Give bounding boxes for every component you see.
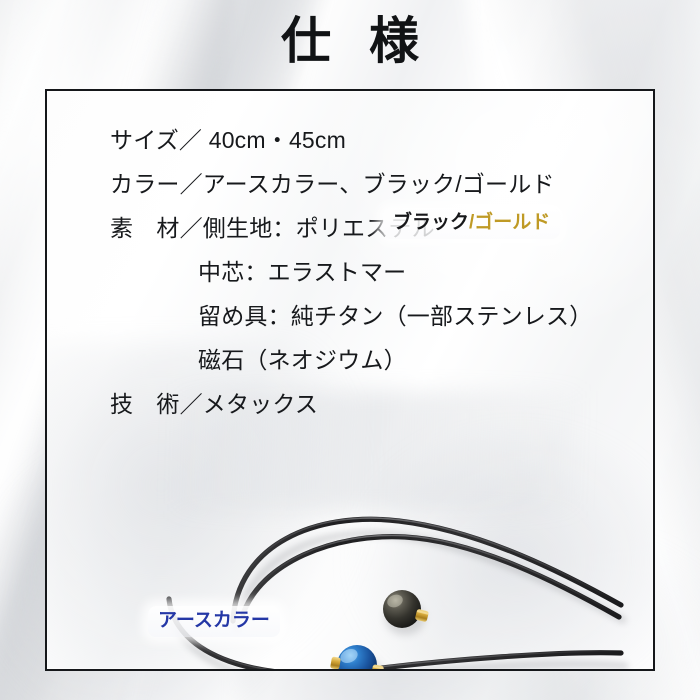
spec-line-material: 素 材／側生地：ポリエステル bbox=[110, 206, 640, 250]
clasp-bead-black-gold bbox=[383, 590, 429, 635]
label-black-gold-part1: ブラック bbox=[393, 212, 469, 233]
spec-line-core: 中芯：エラストマー bbox=[110, 250, 640, 294]
clasp-bead-earth-color bbox=[330, 645, 384, 669]
specification-list: サイズ／ 40cm・45cm カラー／アースカラー、ブラック/ゴールド 素 材／… bbox=[110, 118, 640, 426]
spec-line-magnet: 磁石（ネオジウム） bbox=[110, 338, 640, 382]
label-earth-color: アースカラー bbox=[148, 606, 280, 637]
product-photo bbox=[47, 471, 653, 669]
product-spec-image: 仕 様 サイズ／ 40cm・45cm カラー／アースカラー、ブラック/ゴールド … bbox=[0, 0, 700, 700]
page-title: 仕 様 bbox=[0, 14, 700, 69]
spec-line-technology: 技 術／メタックス bbox=[110, 382, 640, 426]
label-black-gold-part2: /ゴールド bbox=[469, 212, 550, 233]
spec-line-clasp: 留め具：純チタン（一部ステンレス） bbox=[110, 294, 640, 338]
specification-panel: サイズ／ 40cm・45cm カラー／アースカラー、ブラック/ゴールド 素 材／… bbox=[45, 89, 655, 671]
spec-line-size: サイズ／ 40cm・45cm bbox=[110, 118, 640, 162]
label-black-gold: ブラック/ゴールド bbox=[383, 208, 560, 239]
necklace-black-gold bbox=[233, 518, 621, 621]
spec-line-color: カラー／アースカラー、ブラック/ゴールド bbox=[110, 162, 640, 206]
